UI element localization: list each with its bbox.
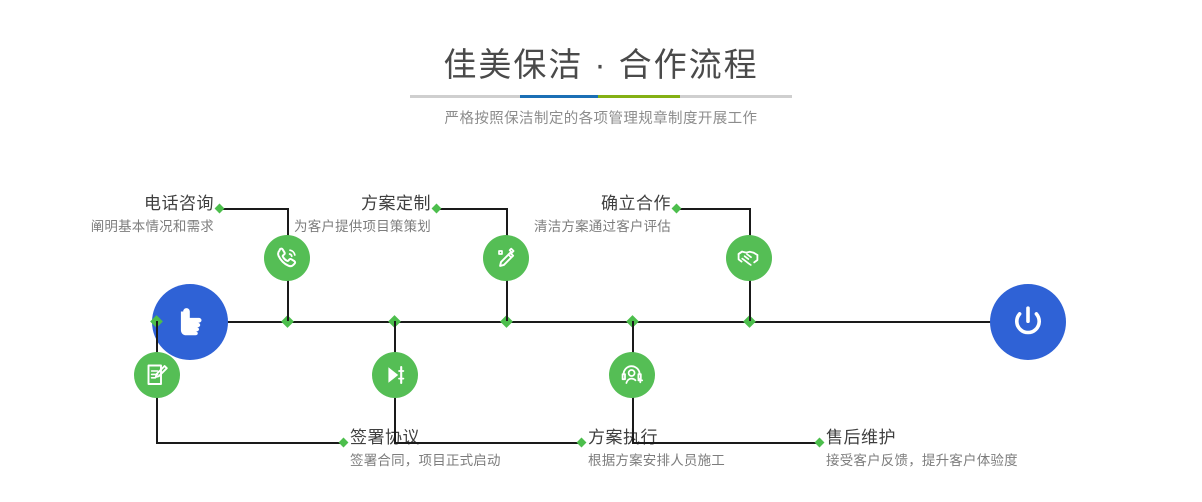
label-marker-2 bbox=[339, 438, 349, 448]
step-icon-5 bbox=[726, 235, 772, 281]
step-icon-4 bbox=[372, 352, 418, 398]
header: 佳美保洁 · 合作流程 严格按照保洁制定的各项管理规章制度开展工作 bbox=[0, 0, 1202, 150]
step-subtitle-4: 根据方案安排人员施工 bbox=[588, 451, 725, 470]
step-subtitle-3: 为客户提供项目策策划 bbox=[220, 217, 431, 236]
title-divider bbox=[410, 95, 792, 98]
document-sign-icon bbox=[144, 362, 170, 388]
elbow-6 bbox=[632, 442, 818, 444]
step-subtitle-5: 清洁方案通过客户评估 bbox=[460, 217, 671, 236]
headset-support-icon bbox=[619, 362, 645, 388]
handshake-icon bbox=[736, 245, 762, 271]
step-icon-3 bbox=[483, 235, 529, 281]
step-label-2: 签署协议 签署合同，项目正式启动 bbox=[350, 428, 501, 470]
timeline-diagram: 电话咨询 阐明基本情况和需求 签署协议 签署合同，项目正式启动 bbox=[0, 150, 1202, 502]
step-label-1: 电话咨询 阐明基本情况和需求 bbox=[0, 194, 214, 236]
step-label-6: 售后维护 接受客户反馈，提升客户体验度 bbox=[826, 428, 1018, 470]
divider-green-segment bbox=[598, 95, 680, 98]
page-subtitle: 严格按照保洁制定的各项管理规章制度开展工作 bbox=[0, 107, 1202, 128]
label-marker-4 bbox=[577, 438, 587, 448]
elbow-4 bbox=[394, 442, 580, 444]
step-label-4: 方案执行 根据方案安排人员施工 bbox=[588, 428, 725, 470]
step-icon-1 bbox=[264, 235, 310, 281]
step-label-3: 方案定制 为客户提供项目策策划 bbox=[220, 194, 431, 236]
step-title-5: 确立合作 bbox=[460, 194, 671, 214]
step-icon-2 bbox=[134, 352, 180, 398]
label-marker-3 bbox=[432, 204, 442, 214]
step-icon-6 bbox=[609, 352, 655, 398]
step-title-6: 售后维护 bbox=[826, 428, 1018, 448]
pencil-design-icon bbox=[493, 245, 519, 271]
power-icon bbox=[1007, 301, 1049, 343]
cooperation-process-infographic: 佳美保洁 · 合作流程 严格按照保洁制定的各项管理规章制度开展工作 bbox=[0, 0, 1202, 502]
play-execute-icon bbox=[382, 362, 408, 388]
page-title: 佳美保洁 · 合作流程 bbox=[0, 38, 1202, 86]
step-title-2: 签署协议 bbox=[350, 428, 501, 448]
elbow-2 bbox=[156, 442, 342, 444]
start-node bbox=[152, 284, 228, 360]
step-subtitle-1: 阐明基本情况和需求 bbox=[0, 217, 214, 236]
step-title-4: 方案执行 bbox=[588, 428, 725, 448]
step-subtitle-2: 签署合同，项目正式启动 bbox=[350, 451, 501, 470]
label-marker-5 bbox=[672, 204, 682, 214]
divider-blue-segment bbox=[520, 95, 598, 98]
step-title-3: 方案定制 bbox=[220, 194, 431, 214]
elbow-5 bbox=[679, 208, 750, 210]
pointing-hand-icon bbox=[169, 301, 211, 343]
step-subtitle-6: 接受客户反馈，提升客户体验度 bbox=[826, 451, 1018, 470]
label-marker-6 bbox=[815, 438, 825, 448]
timeline-axis bbox=[225, 321, 995, 323]
step-label-5: 确立合作 清洁方案通过客户评估 bbox=[460, 194, 671, 236]
step-title-1: 电话咨询 bbox=[0, 194, 214, 214]
phone-call-icon bbox=[274, 245, 300, 271]
end-node bbox=[990, 284, 1066, 360]
